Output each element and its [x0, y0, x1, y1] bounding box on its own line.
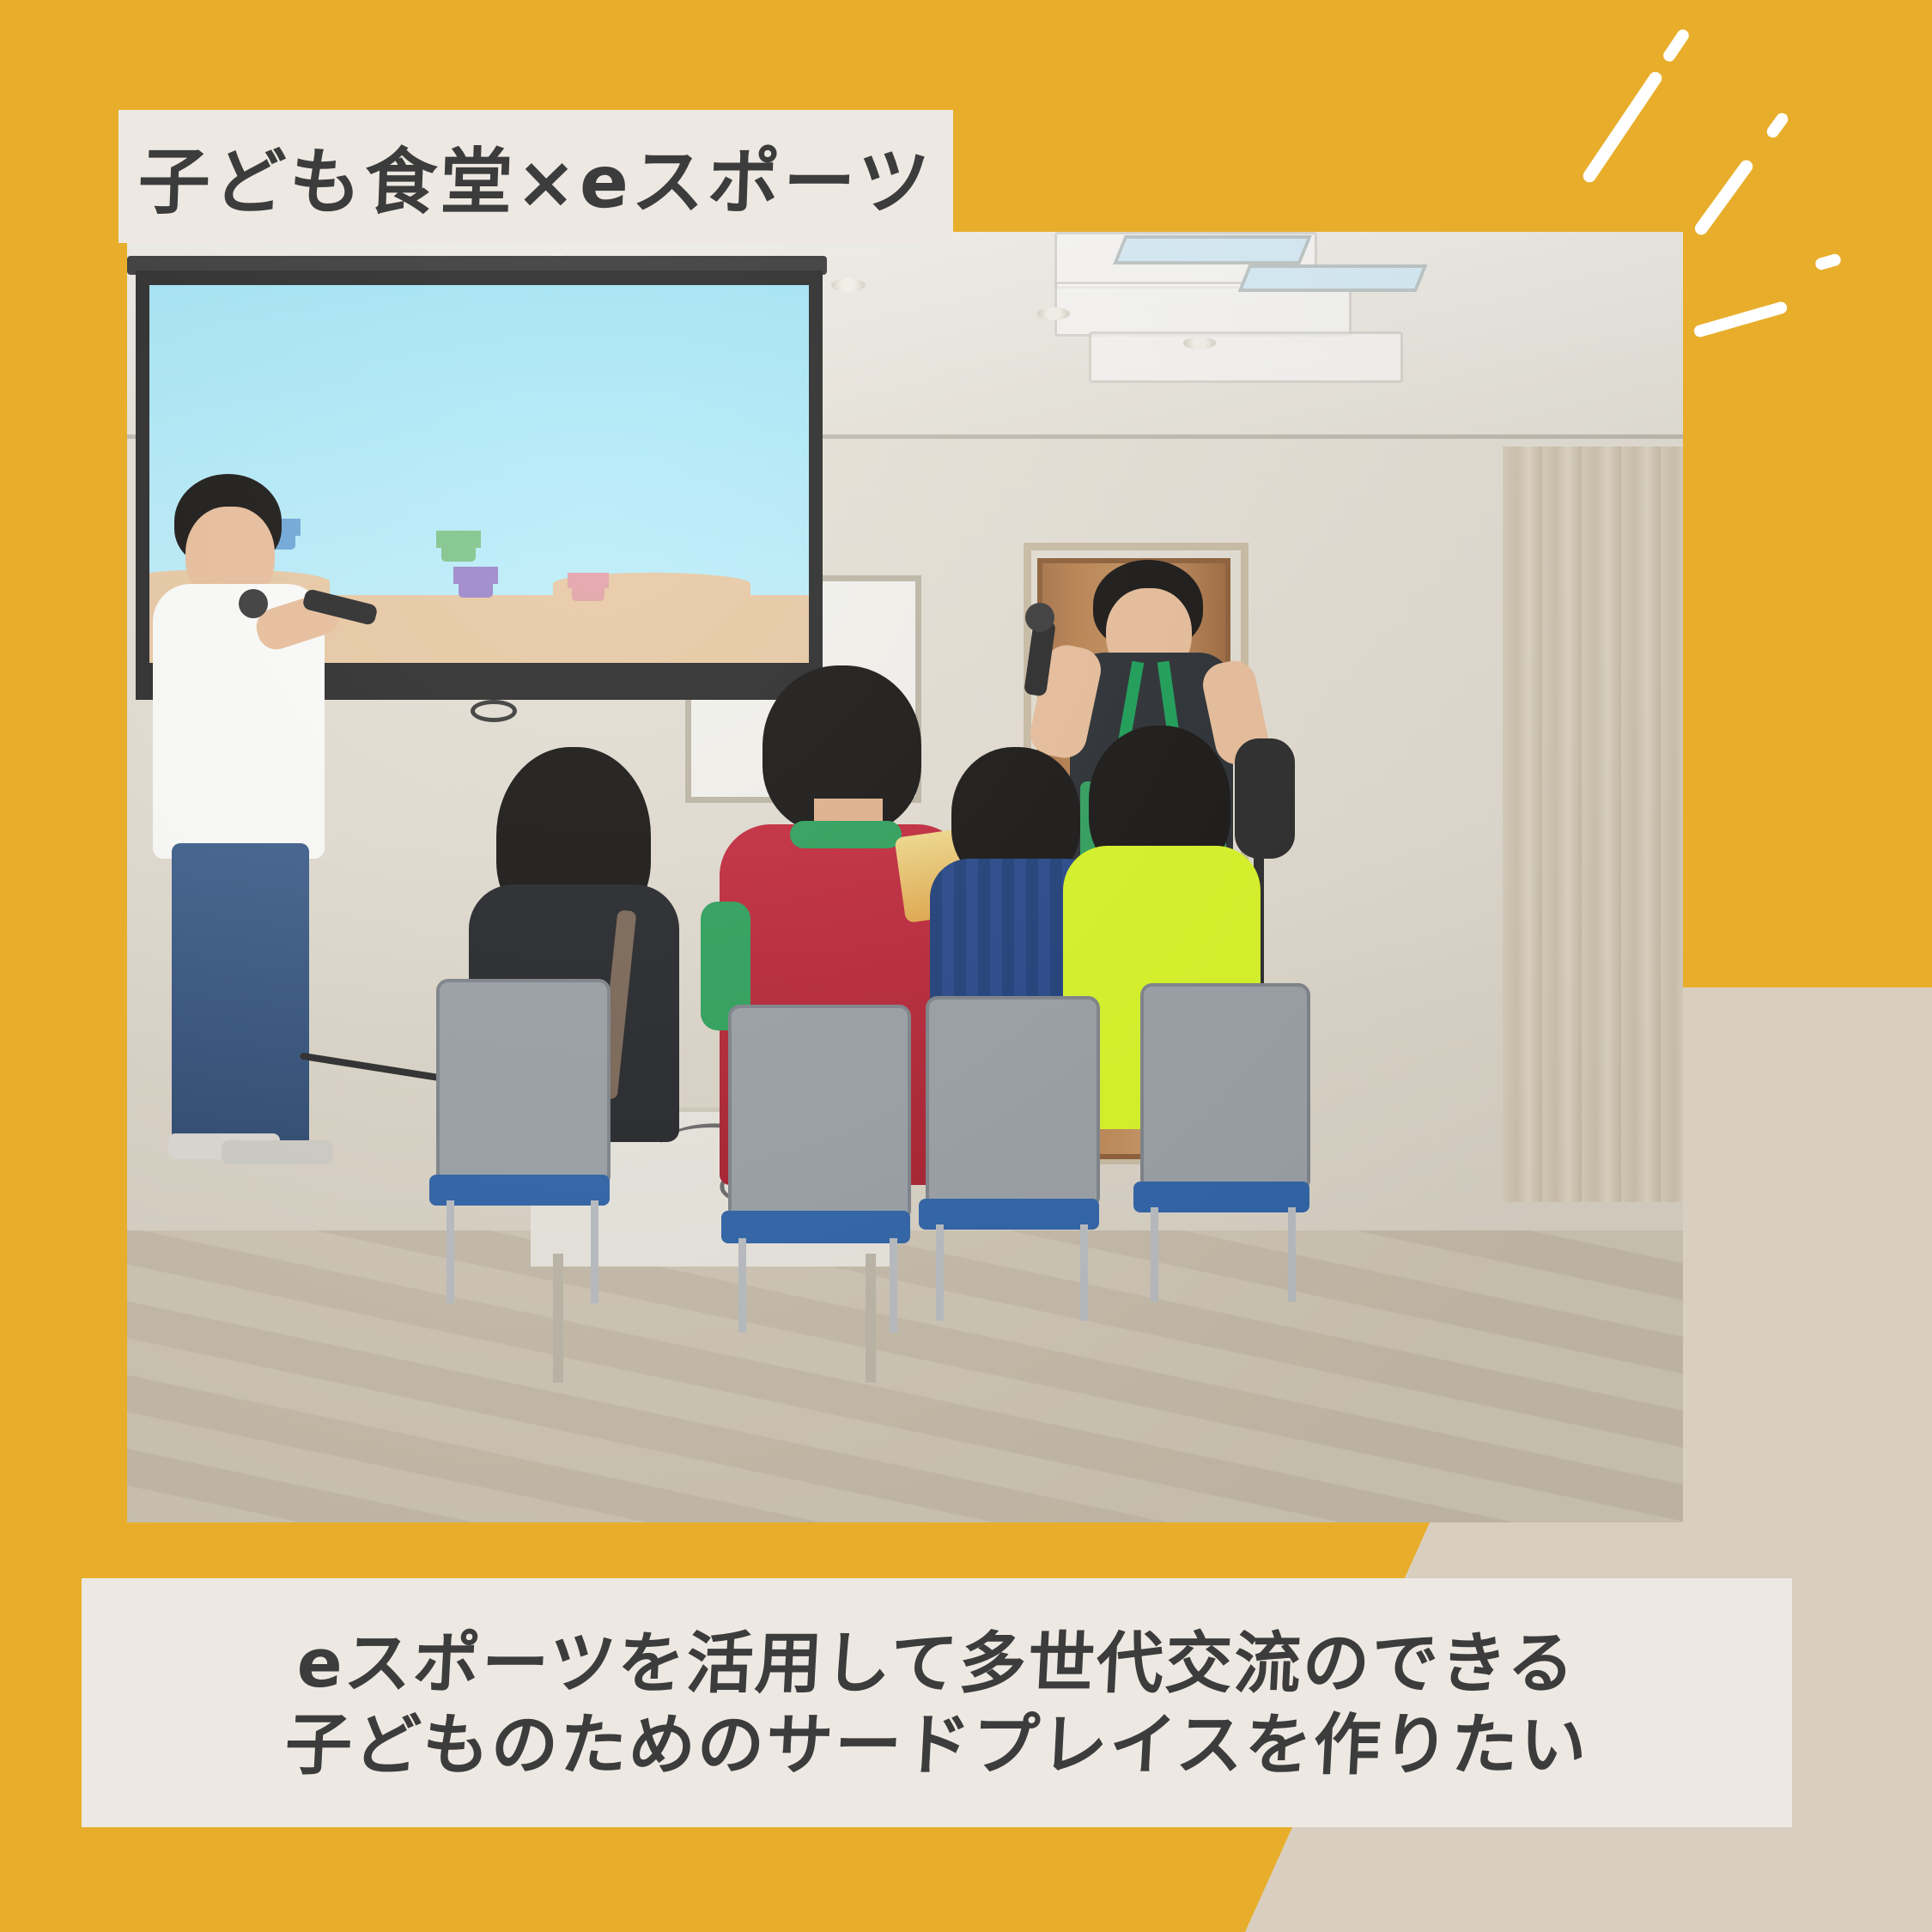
table-leg: [553, 1254, 563, 1382]
chair-leg: [936, 1224, 944, 1321]
presenter-left-shoe: [222, 1140, 333, 1164]
title-card: 子ども食堂×eスポーツ: [118, 110, 953, 243]
sparkle-line-2: [1581, 70, 1664, 185]
chair-seat: [1133, 1182, 1309, 1212]
ceiling-downlight: [831, 278, 866, 292]
ceiling-light-panel: [1113, 235, 1312, 264]
game-character-cat-green: [441, 534, 476, 562]
audience-red-collar: [790, 821, 902, 848]
page-title: 子ども食堂×eスポーツ: [137, 125, 935, 228]
caption-line-2: 子どものためのサードプレイスを作りたい: [283, 1705, 1591, 1787]
ceiling-tile: [1089, 331, 1403, 383]
chair-seat: [919, 1199, 1099, 1230]
chair-seat: [429, 1175, 610, 1206]
ceiling-downlight: [1037, 307, 1070, 320]
sparkle-line-3: [1765, 111, 1790, 140]
chair-leg: [447, 1200, 454, 1303]
sparkle-line-1: [1661, 27, 1691, 64]
table-leg: [866, 1254, 876, 1382]
chair-leg: [890, 1238, 897, 1333]
screen-pull-ring: [471, 700, 517, 722]
chair-leg: [1288, 1207, 1296, 1302]
event-photo: [127, 232, 1683, 1522]
game-character-cat-purple: [459, 570, 493, 598]
microphone-head-right: [1025, 603, 1054, 632]
office-chair: [1235, 738, 1295, 859]
sparkle-line-4: [1692, 158, 1755, 238]
microphone-head-left: [239, 589, 268, 618]
presenter-left-pants: [172, 843, 309, 1144]
ceiling-light-panel: [1238, 264, 1428, 292]
ceiling-downlight: [1183, 337, 1216, 349]
chair-leg: [591, 1200, 598, 1303]
chair: [926, 996, 1100, 1209]
room-floor: [127, 1230, 1683, 1522]
chair: [728, 1005, 911, 1222]
game-character-cat-pink: [572, 575, 605, 601]
sparkle-line-5: [1814, 252, 1843, 271]
window-curtain: [1503, 447, 1683, 1202]
chair: [1140, 983, 1310, 1192]
chair-seat: [721, 1211, 910, 1243]
poster-canvas: 子ども食堂×eスポーツ eスポーツを活用して多世代交流のできる 子どものためのサ…: [0, 0, 1932, 1932]
chair-leg: [1151, 1207, 1158, 1302]
sparkle-line-6: [1692, 301, 1789, 338]
chair-leg: [1080, 1224, 1088, 1321]
chair: [436, 979, 611, 1188]
chair-leg: [738, 1238, 746, 1333]
caption-line-1: eスポーツを活用して多世代交流のできる: [295, 1624, 1578, 1705]
caption-card: eスポーツを活用して多世代交流のできる 子どものためのサードプレイスを作りたい: [82, 1578, 1792, 1827]
